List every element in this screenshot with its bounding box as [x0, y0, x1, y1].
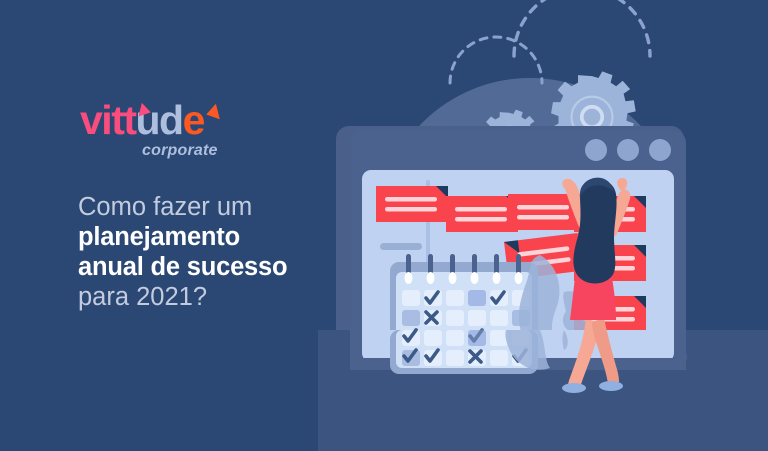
- window-dot-2: [617, 139, 639, 161]
- vittude-logo: vittude corporate: [78, 96, 348, 166]
- illustration: [318, 0, 768, 451]
- logo-subtitle: corporate: [142, 142, 218, 160]
- logo-word-part-1: vitt: [80, 97, 136, 143]
- text-column: vittude corporate: [78, 96, 348, 166]
- sticky-note-1[interactable]: [376, 186, 448, 222]
- person-shoe-left: [562, 383, 586, 393]
- window-dot-3: [649, 139, 671, 161]
- window-dots: [585, 139, 671, 161]
- logo-word-part-3: e: [183, 97, 204, 143]
- sticky-note-2[interactable]: [446, 196, 518, 232]
- person-shoe-right: [599, 381, 623, 391]
- window-dot-1: [585, 139, 607, 161]
- promo-banner: vittude corporate Como fazer um planejam…: [0, 0, 768, 451]
- list-placeholder-bar: [380, 243, 422, 250]
